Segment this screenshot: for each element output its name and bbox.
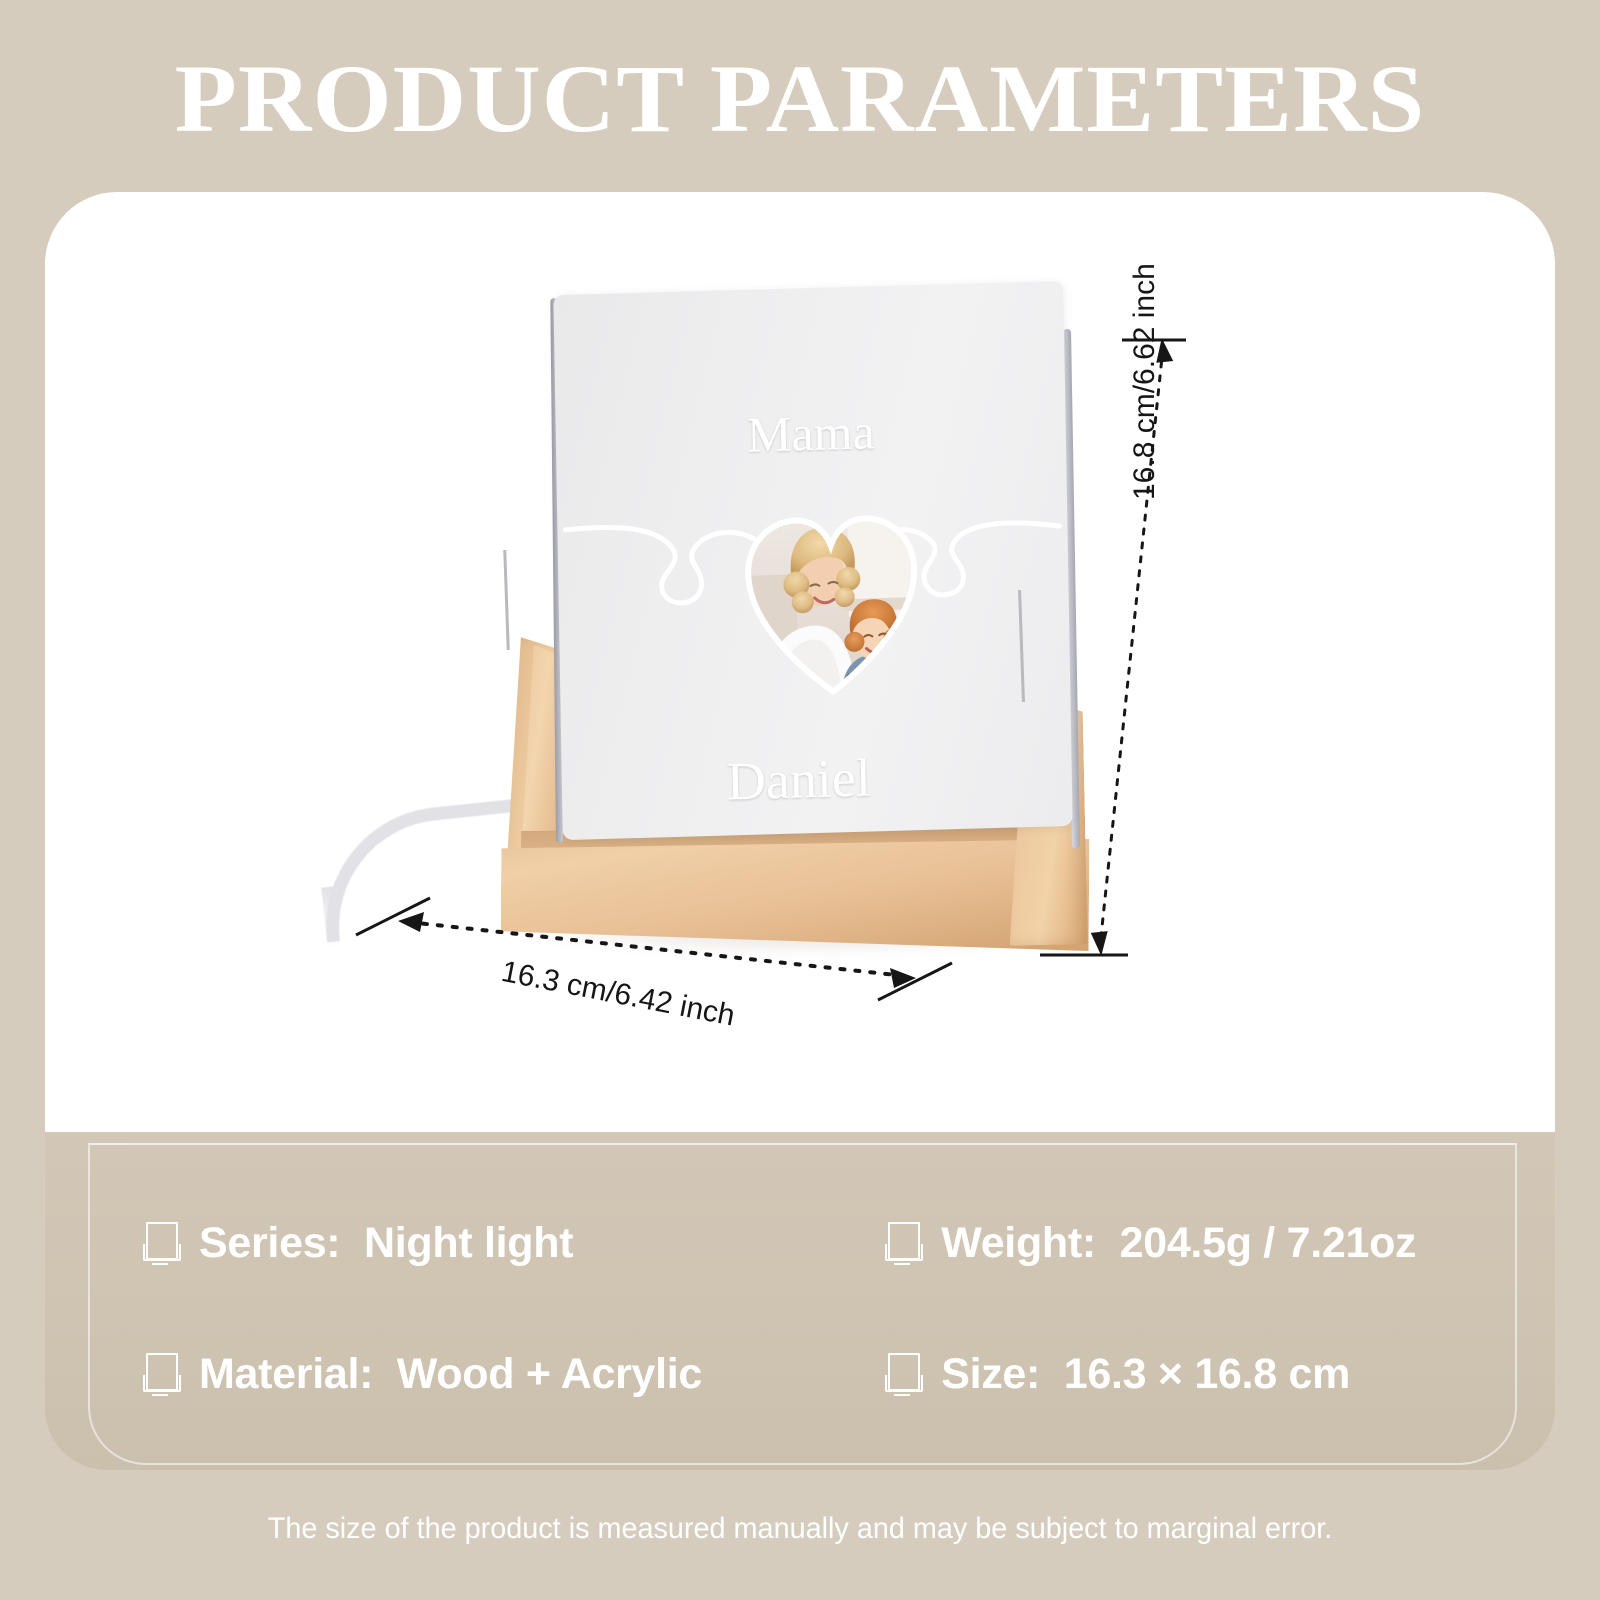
frame-icon [885, 1222, 919, 1266]
spec-weight-label: Weight: [941, 1219, 1096, 1267]
spec-material-value: Wood + Acrylic [397, 1350, 702, 1398]
spec-weight-value: 204.5g / 7.21oz [1120, 1219, 1417, 1267]
frame-icon [143, 1222, 177, 1266]
spec-series-text: Series: Night light [199, 1219, 573, 1268]
spec-size-label: Size: [941, 1350, 1040, 1398]
acrylic-plaque: Mama [553, 281, 1072, 840]
footer-disclaimer: The size of the product is measured manu… [32, 1512, 1568, 1546]
spec-size-value: 16.3 × 16.8 cm [1064, 1350, 1350, 1398]
specifications-grid: Series: Night light Weight: 204.5g / 7.2… [45, 1132, 1555, 1470]
spec-item-weight: Weight: 204.5g / 7.21oz [830, 1219, 1555, 1268]
spec-series-label: Series: [199, 1219, 340, 1267]
product-stage: Mama [45, 192, 1555, 1132]
spec-size-text: Size: 16.3 × 16.8 cm [941, 1350, 1350, 1399]
product-image-card: Mama [45, 192, 1555, 1132]
spec-series-value: Night light [364, 1219, 573, 1267]
plaque-name-top: Mama [555, 397, 1066, 469]
spec-material-text: Material: Wood + Acrylic [199, 1350, 702, 1399]
heart-photo [735, 501, 928, 702]
spec-weight-text: Weight: 204.5g / 7.21oz [941, 1219, 1416, 1268]
frame-icon [143, 1353, 177, 1397]
plaque-body: Mama [553, 281, 1072, 840]
spec-item-series: Series: Night light [45, 1219, 830, 1268]
page-title: PRODUCT PARAMETERS [0, 46, 1600, 152]
stand-base-slab [501, 835, 1090, 951]
heart-photo-frame [735, 501, 928, 702]
plaque-name-bottom: Daniel [543, 741, 1054, 817]
spec-material-label: Material: [199, 1350, 373, 1398]
spec-item-material: Material: Wood + Acrylic [45, 1350, 830, 1399]
plaque-rod-left [503, 550, 509, 650]
frame-icon [885, 1353, 919, 1397]
spec-item-size: Size: 16.3 × 16.8 cm [830, 1350, 1555, 1399]
